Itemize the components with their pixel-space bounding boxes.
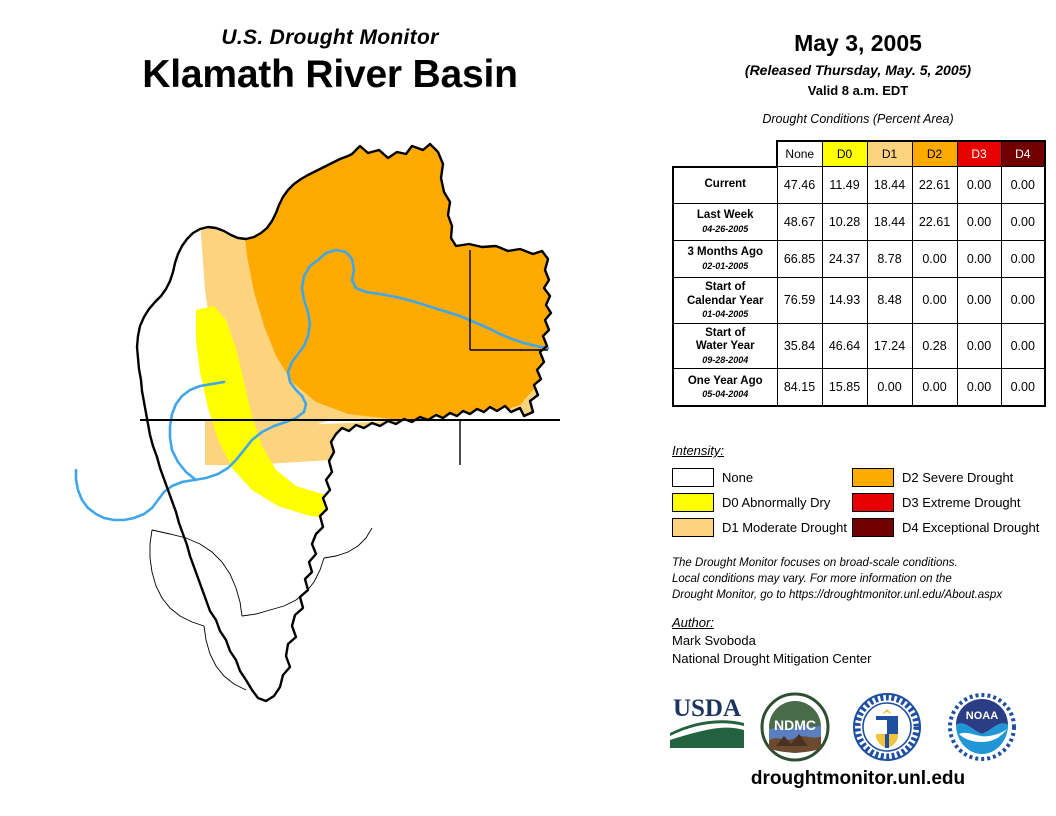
table-cell-none: 35.84 bbox=[777, 323, 822, 369]
table-body: Current47.4611.4918.4422.610.000.00Last … bbox=[673, 167, 1045, 406]
row-label: Current bbox=[673, 167, 777, 204]
legend-swatch-d3 bbox=[852, 493, 894, 512]
table-cell-d1: 8.48 bbox=[867, 278, 912, 324]
row-label-date: 02-01-2005 bbox=[676, 261, 775, 272]
map-title-block: U.S. Drought Monitor Klamath River Basin bbox=[0, 26, 660, 97]
table-cell-d1: 8.78 bbox=[867, 241, 912, 278]
release-date: (Released Thursday, May. 5, 2005) bbox=[660, 62, 1056, 78]
table-cell-d3: 0.00 bbox=[957, 167, 1001, 204]
table-cell-d2: 0.28 bbox=[912, 323, 957, 369]
table-cell-d0: 14.93 bbox=[822, 278, 867, 324]
table-cell-d1: 18.44 bbox=[867, 204, 912, 241]
table-cell-d1: 17.24 bbox=[867, 323, 912, 369]
valid-time: Valid 8 a.m. EDT bbox=[660, 83, 1056, 98]
disclaimer: The Drought Monitor focuses on broad-sca… bbox=[672, 556, 1052, 604]
table-cell-d3: 0.00 bbox=[957, 241, 1001, 278]
legend-item-d0: D0 Abnormally Dry bbox=[672, 493, 852, 512]
row-label: 3 Months Ago02-01-2005 bbox=[673, 241, 777, 278]
legend-item-none: None bbox=[672, 468, 852, 487]
table-cell-d2: 0.00 bbox=[912, 241, 957, 278]
legend-item-d4: D4 Exceptional Drought bbox=[852, 518, 1052, 537]
table-cell-d3: 0.00 bbox=[957, 369, 1001, 406]
table-cell-d3: 0.00 bbox=[957, 204, 1001, 241]
table-cell-d0: 15.85 bbox=[822, 369, 867, 406]
legend-label: D2 Severe Drought bbox=[902, 470, 1013, 485]
col-header-d4: D4 bbox=[1001, 141, 1045, 167]
map-supertitle: U.S. Drought Monitor bbox=[0, 26, 660, 50]
legend-item-d1: D1 Moderate Drought bbox=[672, 518, 852, 537]
table-corner-cell bbox=[673, 141, 777, 167]
row-label-line: Start of bbox=[676, 327, 775, 341]
table-cell-d0: 24.37 bbox=[822, 241, 867, 278]
legend-label: D3 Extreme Drought bbox=[902, 495, 1021, 510]
legend: Intensity: NoneD2 Severe DroughtD0 Abnor… bbox=[672, 443, 1052, 540]
legend-label: D0 Abnormally Dry bbox=[722, 495, 830, 510]
row-label: Start ofWater Year09-28-2004 bbox=[673, 323, 777, 369]
table-cell-d1: 18.44 bbox=[867, 167, 912, 204]
disclaimer-line-3: Drought Monitor, go to https://droughtmo… bbox=[672, 588, 1052, 604]
legend-swatch-none bbox=[672, 468, 714, 487]
col-header-none: None bbox=[777, 141, 822, 167]
row-label: Last Week04-26-2005 bbox=[673, 204, 777, 241]
row-label-date: 01-04-2005 bbox=[676, 309, 775, 320]
table-cell-d4: 0.00 bbox=[1001, 323, 1045, 369]
table-cell-d4: 0.00 bbox=[1001, 167, 1045, 204]
author-block: Author: Mark Svoboda National Drought Mi… bbox=[672, 615, 1052, 666]
info-panel: May 3, 2005 (Released Thursday, May. 5, … bbox=[660, 0, 1056, 816]
table-header-row: None D0 D1 D2 D3 D4 bbox=[673, 141, 1045, 167]
table-row: 3 Months Ago02-01-200566.8524.378.780.00… bbox=[673, 241, 1045, 278]
legend-label: D1 Moderate Drought bbox=[722, 520, 847, 535]
legend-label: D4 Exceptional Drought bbox=[902, 520, 1039, 535]
legend-swatch-d0 bbox=[672, 493, 714, 512]
table-cell-none: 48.67 bbox=[777, 204, 822, 241]
table-caption: Drought Conditions (Percent Area) bbox=[660, 112, 1056, 126]
table-cell-d3: 0.00 bbox=[957, 323, 1001, 369]
table-cell-d2: 22.61 bbox=[912, 204, 957, 241]
col-header-d0: D0 bbox=[822, 141, 867, 167]
website-url: droughtmonitor.unl.edu bbox=[660, 768, 1056, 790]
row-label: Start ofCalendar Year01-04-2005 bbox=[673, 278, 777, 324]
svg-text:NDMC: NDMC bbox=[774, 717, 816, 733]
table-row: Last Week04-26-200548.6710.2818.4422.610… bbox=[673, 204, 1045, 241]
row-label-line: Calendar Year bbox=[676, 295, 775, 309]
table-cell-d4: 0.00 bbox=[1001, 241, 1045, 278]
table-cell-d3: 0.00 bbox=[957, 278, 1001, 324]
table-cell-none: 84.15 bbox=[777, 369, 822, 406]
noaa-logo: NOAA bbox=[945, 690, 1019, 764]
disclaimer-line-1: The Drought Monitor focuses on broad-sca… bbox=[672, 556, 1052, 572]
row-label-line: Last Week bbox=[676, 209, 775, 223]
row-label-date: 04-26-2005 bbox=[676, 224, 775, 235]
table-cell-d4: 0.00 bbox=[1001, 204, 1045, 241]
logo-row: USDA NDMC bbox=[660, 690, 1056, 770]
legend-item-d2: D2 Severe Drought bbox=[852, 468, 1052, 487]
author-name: Mark Svoboda bbox=[672, 633, 1052, 648]
table-cell-d1: 0.00 bbox=[867, 369, 912, 406]
legend-label: None bbox=[722, 470, 753, 485]
ndmc-logo: NDMC bbox=[758, 690, 832, 764]
author-title: Author: bbox=[672, 615, 1052, 630]
legend-grid: NoneD2 Severe DroughtD0 Abnormally DryD3… bbox=[672, 465, 1052, 540]
table-cell-d0: 10.28 bbox=[822, 204, 867, 241]
date-block: May 3, 2005 (Released Thursday, May. 5, … bbox=[660, 0, 1056, 98]
row-label: One Year Ago05-04-2004 bbox=[673, 369, 777, 406]
report-date: May 3, 2005 bbox=[660, 30, 1056, 57]
page-title: Klamath River Basin bbox=[0, 53, 660, 97]
disclaimer-line-2: Local conditions may vary. For more info… bbox=[672, 572, 1052, 588]
row-label-date: 09-28-2004 bbox=[676, 355, 775, 366]
table-cell-none: 47.46 bbox=[777, 167, 822, 204]
table-cell-d2: 0.00 bbox=[912, 369, 957, 406]
svg-text:NOAA: NOAA bbox=[966, 710, 998, 722]
legend-swatch-d1 bbox=[672, 518, 714, 537]
map-panel: U.S. Drought Monitor Klamath River Basin bbox=[0, 0, 660, 816]
col-header-d3: D3 bbox=[957, 141, 1001, 167]
table-cell-d2: 22.61 bbox=[912, 167, 957, 204]
author-organization: National Drought Mitigation Center bbox=[672, 651, 1052, 666]
table-row: Current47.4611.4918.4422.610.000.00 bbox=[673, 167, 1045, 204]
table-cell-d0: 46.64 bbox=[822, 323, 867, 369]
legend-item-d3: D3 Extreme Drought bbox=[852, 493, 1052, 512]
usda-logo: USDA bbox=[668, 690, 746, 752]
drought-map[interactable] bbox=[0, 120, 660, 816]
row-label-date: 05-04-2004 bbox=[676, 389, 775, 400]
table-cell-none: 76.59 bbox=[777, 278, 822, 324]
table-cell-none: 66.85 bbox=[777, 241, 822, 278]
row-label-line: Current bbox=[676, 178, 775, 192]
legend-swatch-d2 bbox=[852, 468, 894, 487]
row-label-line: 3 Months Ago bbox=[676, 246, 775, 260]
row-label-line: Water Year bbox=[676, 340, 775, 354]
col-header-d1: D1 bbox=[867, 141, 912, 167]
col-header-d2: D2 bbox=[912, 141, 957, 167]
drought-conditions-table: None D0 D1 D2 D3 D4 Current47.4611.4918.… bbox=[672, 140, 1044, 407]
table-row: Start ofWater Year09-28-200435.8446.6417… bbox=[673, 323, 1045, 369]
legend-swatch-d4 bbox=[852, 518, 894, 537]
department-of-commerce-seal bbox=[850, 690, 924, 764]
table-cell-d0: 11.49 bbox=[822, 167, 867, 204]
row-label-line: One Year Ago bbox=[676, 375, 775, 389]
row-label-line: Start of bbox=[676, 281, 775, 295]
table-row: One Year Ago05-04-200484.1515.850.000.00… bbox=[673, 369, 1045, 406]
table-cell-d4: 0.00 bbox=[1001, 278, 1045, 324]
table-cell-d4: 0.00 bbox=[1001, 369, 1045, 406]
legend-title: Intensity: bbox=[672, 443, 1052, 458]
table-cell-d2: 0.00 bbox=[912, 278, 957, 324]
svg-text:USDA: USDA bbox=[673, 695, 741, 722]
table-row: Start ofCalendar Year01-04-200576.5914.9… bbox=[673, 278, 1045, 324]
